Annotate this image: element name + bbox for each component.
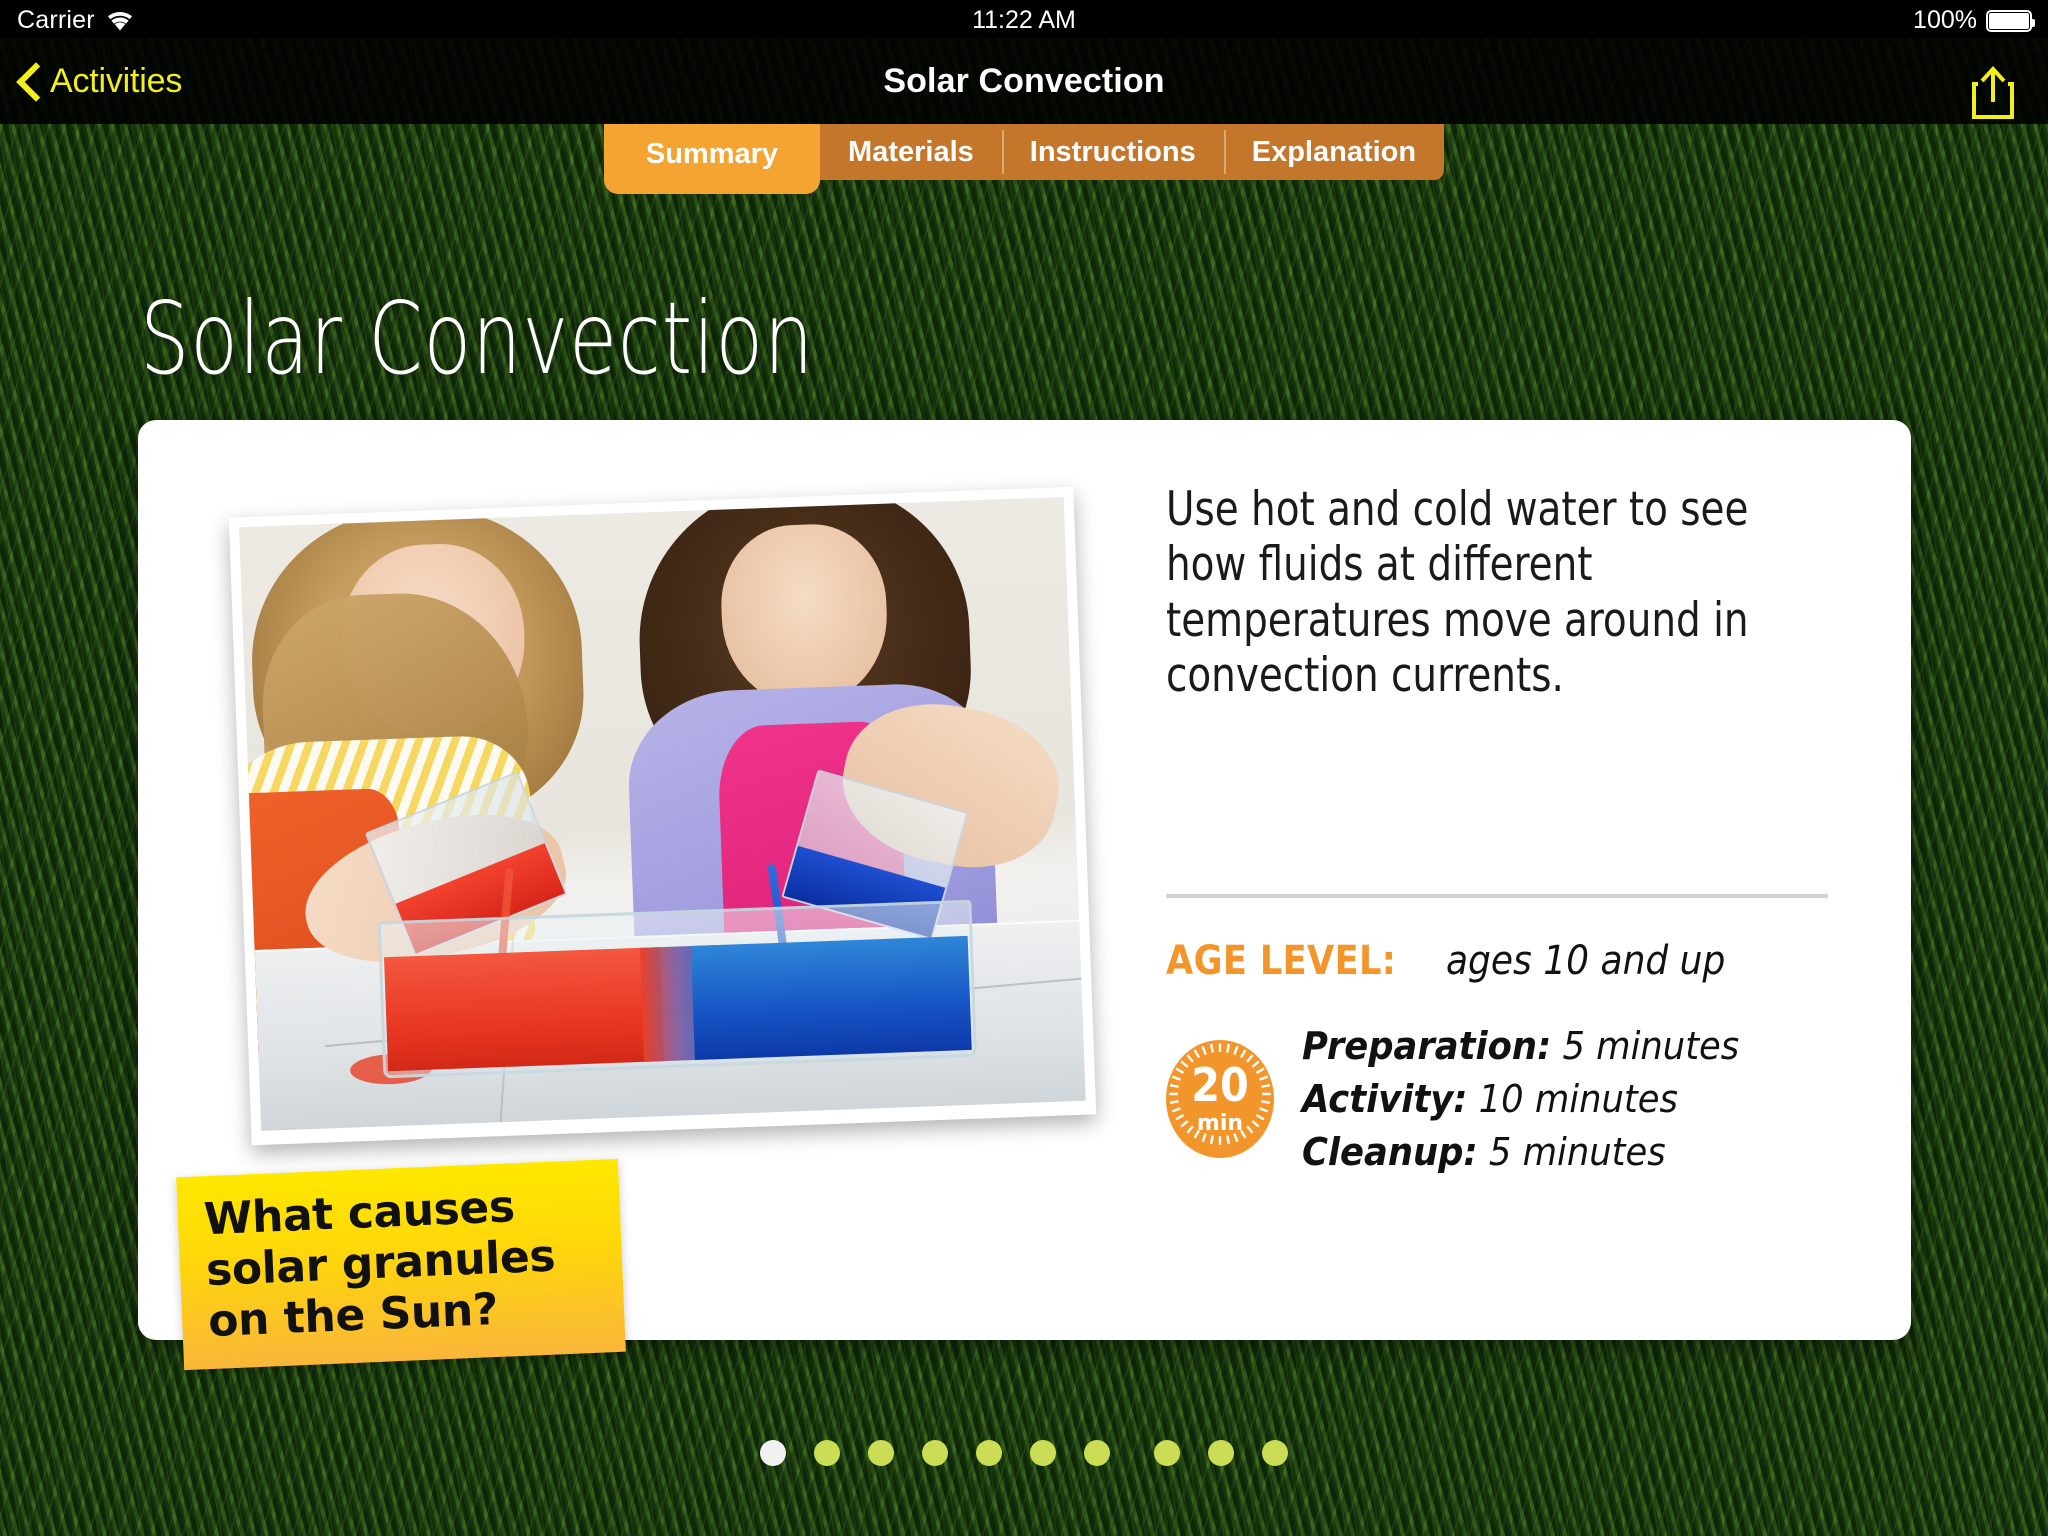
pagination-dot[interactable]: [976, 1440, 1002, 1466]
time-row: Preparation: 5 minutes: [1302, 1024, 1739, 1068]
nav-title: Solar Convection: [0, 38, 2048, 124]
pagination-dot[interactable]: [814, 1440, 840, 1466]
summary-details: Use hot and cold water to see how fluids…: [1166, 482, 1838, 1174]
tab-summary[interactable]: Summary: [604, 124, 820, 194]
battery-percent-label: 100%: [1913, 6, 1977, 35]
pagination-dot[interactable]: [760, 1440, 786, 1466]
activity-description: Use hot and cold water to see how fluids…: [1166, 482, 1784, 704]
time-row-value: 10 minutes: [1467, 1077, 1677, 1121]
question-callout: What causes solar granules on the Sun?: [176, 1159, 626, 1370]
age-level-row: AGE LEVEL: ages 10 and up: [1166, 938, 1838, 984]
time-row: Cleanup: 5 minutes: [1302, 1130, 1739, 1174]
section-divider: [1166, 894, 1828, 898]
pagination-dot[interactable]: [1084, 1440, 1110, 1466]
tab-instructions[interactable]: Instructions: [1002, 124, 1224, 180]
tab-explanation[interactable]: Explanation: [1224, 124, 1444, 180]
pagination-dot[interactable]: [1030, 1440, 1056, 1466]
timer-unit: min: [1197, 1113, 1243, 1135]
timer-badge: 20 min: [1166, 1040, 1274, 1158]
time-row: Activity: 10 minutes: [1302, 1077, 1739, 1121]
pagination-dot[interactable]: [1208, 1440, 1234, 1466]
pagination-dots: [0, 1436, 2048, 1470]
battery-icon: [1986, 10, 2032, 32]
tab-bar: SummaryMaterialsInstructionsExplanation: [0, 124, 2048, 194]
time-row-value: 5 minutes: [1551, 1024, 1739, 1068]
status-bar-right: 100%: [1913, 6, 2032, 35]
photo-image: [239, 497, 1086, 1131]
page-title: Solar Convection: [140, 280, 814, 397]
status-bar: Carrier 11:22 AM 100%: [0, 0, 2048, 38]
nav-bar: Activities Solar Convection: [0, 38, 2048, 124]
activity-photo: [229, 487, 1096, 1146]
pagination-dot[interactable]: [1154, 1440, 1180, 1466]
photo-frame: [229, 487, 1096, 1146]
question-callout-text: What causes solar granules on the Sun?: [203, 1178, 599, 1347]
time-row-value: 5 minutes: [1478, 1130, 1666, 1174]
share-button[interactable]: [1966, 64, 2020, 120]
timer-number: 20: [1191, 1062, 1249, 1108]
status-bar-time: 11:22 AM: [0, 6, 2048, 35]
time-breakdown: 20 min Preparation: 5 minutesActivity: 1…: [1166, 1024, 1838, 1174]
tab-list: SummaryMaterialsInstructionsExplanation: [604, 124, 1444, 194]
age-level-value: ages 10 and up: [1446, 938, 1725, 984]
pagination-dot[interactable]: [1262, 1440, 1288, 1466]
age-level-label: AGE LEVEL:: [1166, 938, 1396, 984]
time-list: Preparation: 5 minutesActivity: 10 minut…: [1302, 1024, 1772, 1174]
pagination-dot[interactable]: [868, 1440, 894, 1466]
tab-materials[interactable]: Materials: [820, 124, 1002, 180]
time-row-label: Preparation:: [1302, 1024, 1551, 1068]
pagination-dot[interactable]: [922, 1440, 948, 1466]
time-row-label: Cleanup:: [1302, 1130, 1478, 1174]
share-icon: [1966, 64, 2020, 120]
summary-card: What causes solar granules on the Sun? U…: [138, 420, 1911, 1340]
time-row-label: Activity:: [1302, 1077, 1467, 1121]
